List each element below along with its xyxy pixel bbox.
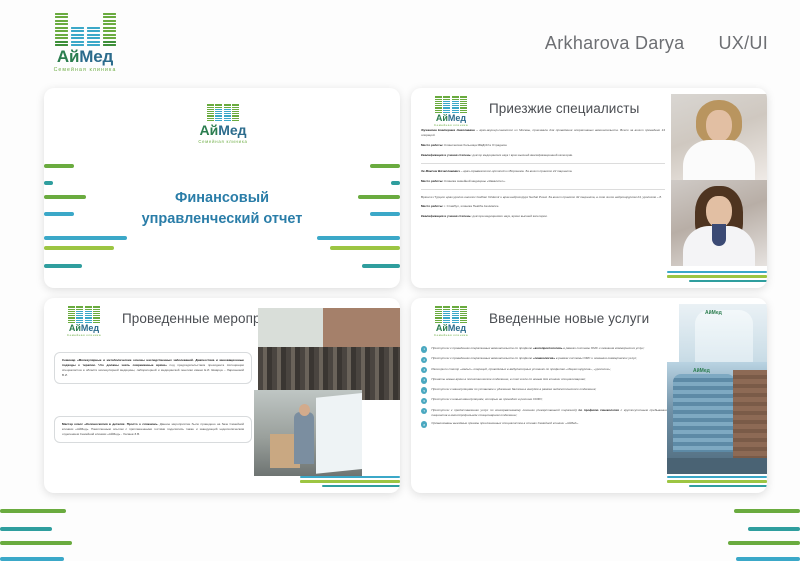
logo-mark-icon — [54, 306, 114, 323]
logo-mark-icon — [192, 104, 254, 121]
event-title: Мастер класс «Колоноскопия в деталях. Пр… — [62, 422, 158, 426]
slide2-brand-name: АйМед — [421, 114, 481, 123]
service-number: 6 — [421, 398, 427, 404]
service-item: 6Приступили к новым манипуляциям, которы… — [421, 397, 669, 404]
services-list: 1Приступили к проведению оперативных вме… — [421, 346, 669, 431]
service-number: 7 — [421, 408, 427, 414]
specialist-block: Жуженова Екатерина Николаевна – врач-аку… — [421, 128, 665, 138]
header-credits: Arkharova Darya UX/UI — [545, 33, 768, 54]
slide-services-card[interactable]: АйМед Семейная клиника Введенные новые у… — [411, 298, 767, 493]
specialists-text: Жуженова Екатерина Николаевна – врач-аку… — [421, 128, 665, 224]
specialist-name: Хе Максим Вячеславович — [421, 169, 460, 173]
service-item: 1Приступили к проведению оперативных вме… — [421, 346, 669, 353]
portfolio-page: АйМед Семейная клиника Arkharova Darya U… — [0, 0, 800, 561]
slide1-title: Финансовый управленческий отчет — [44, 188, 400, 230]
service-number: 4 — [421, 377, 427, 383]
slide4-brand-name: АйМед — [421, 324, 481, 333]
bottom-decor — [0, 499, 800, 561]
brand-name: АйМед — [30, 48, 140, 66]
slide1-logo: АйМед Семейная клиника — [192, 104, 254, 144]
logo-mark-icon — [30, 12, 140, 46]
slide3-brand-name: АйМед — [54, 324, 114, 333]
logo-mark-icon — [421, 96, 481, 113]
divider — [421, 189, 665, 190]
divider — [421, 163, 665, 164]
event-photos — [254, 308, 400, 476]
service-text: Приступили к проведению оперативных вмеш… — [431, 346, 644, 353]
slide2-decor-bars — [667, 269, 767, 282]
specialist-field: Место работы: Клиника семейной медицины … — [421, 179, 665, 184]
page-header: АйМед Семейная клиника Arkharova Darya U… — [0, 0, 800, 85]
slide4-title: Введенные новые услуги — [489, 311, 649, 326]
field-value: г. Стамбул, клиника Healths Assistance. — [443, 204, 499, 208]
specialist-desc: врач-уролог-онколог Gokhan Ozdemir и вра… — [445, 195, 662, 199]
audience-photo — [258, 308, 400, 400]
field-label: Квалификация и ученая степень: — [421, 153, 472, 157]
specialist-field: Квалификация и ученая степень: доктора м… — [421, 214, 665, 219]
doctor-photo — [671, 180, 767, 266]
field-value: Клиника семейной медицины «Эквалитет». — [443, 179, 505, 183]
service-text: Организованы выездные приемы приглашенны… — [431, 421, 579, 428]
service-text: Приступили к манипуляциям по установке и… — [431, 387, 596, 394]
service-number: 5 — [421, 387, 427, 393]
slide1-brand-name: АйМед — [192, 123, 254, 138]
specialist-photos — [671, 94, 767, 266]
service-text: Приступили к новым манипуляциям, которые… — [431, 397, 542, 404]
service-item: 8Организованы выездные приемы приглашенн… — [421, 421, 669, 428]
clinic-building-photos: АйМед АйМед — [667, 304, 767, 474]
building-logo-label: АйМед — [705, 310, 722, 316]
event-box: Мастер класс «Колоноскопия в деталях. Пр… — [54, 416, 252, 443]
service-text: Приняты новые врачи в поликлиническое от… — [431, 377, 585, 384]
service-text: Приступили к проведению оперативных вмеш… — [431, 356, 637, 363]
service-item: 5Приступили к манипуляциям по установке … — [421, 387, 669, 394]
author-role: UX/UI — [718, 33, 768, 54]
service-item: 4Приняты новые врачи в поликлиническое о… — [421, 377, 669, 384]
slide4-logo: АйМед Семейная клиника — [421, 306, 481, 337]
service-item: 2Приступили к проведению оперативных вме… — [421, 356, 669, 363]
specialist-name: Жуженова Екатерина Николаевна — [421, 128, 475, 132]
service-text: Расширили спектр «малых» операций, прово… — [431, 367, 611, 374]
logo-mark-icon — [421, 306, 481, 323]
slide-events-card[interactable]: АйМед Семейная клиника Проведенные мероп… — [44, 298, 400, 493]
slide1-title-line1: Финансовый — [44, 188, 400, 209]
slide1-title-line2: управленческий отчет — [44, 209, 400, 230]
doctor-photo — [671, 94, 767, 180]
field-value: доктора медицинских наук, врачи высшей к… — [472, 214, 548, 218]
slide3-logo: АйМед Семейная клиника — [54, 306, 114, 337]
specialist-field: Место работы: г. Стамбул, клиника Health… — [421, 204, 665, 209]
brand-tagline: Семейная клиника — [30, 67, 140, 73]
specialist-block: Врачи из Турции: врач-уролог-онколог Gok… — [421, 195, 665, 200]
slide4-brand-tagline: Семейная клиника — [421, 333, 481, 337]
service-item: 7Приступили к предоставлению услуг по ко… — [421, 408, 669, 418]
specialist-field: Квалификация и ученая степень: доктор ме… — [421, 153, 665, 158]
specialist-field: Место работы: Клиническая больница МЕДСИ… — [421, 143, 665, 148]
service-number: 2 — [421, 357, 427, 363]
specialist-name: Врачи из Турции: — [421, 195, 445, 199]
field-value: доктор медицинских наук / врач высшей кв… — [472, 153, 574, 157]
slide2-logo: АйМед Семейная клиника — [421, 96, 481, 127]
field-label: Место работы: — [421, 204, 443, 208]
specialist-desc: – врач-травматолог-ортопед из Воронежа. … — [460, 169, 572, 173]
slide-specialists-card[interactable]: АйМед Семейная клиника Приезжие специали… — [411, 88, 767, 288]
field-label: Квалификация и ученая степень: — [421, 214, 472, 218]
field-label: Место работы: — [421, 143, 443, 147]
author-name: Arkharova Darya — [545, 33, 685, 54]
brand-logo: АйМед Семейная клиника — [30, 12, 140, 73]
service-number: 8 — [421, 421, 427, 427]
building-photo-main: АйМед — [667, 362, 767, 474]
slide-title-card[interactable]: АйМед Семейная клиника Финансовый управл… — [44, 88, 400, 288]
building-logo-label: АйМед — [693, 368, 710, 374]
service-item: 3Расширили спектр «малых» операций, пров… — [421, 367, 669, 374]
slide3-decor-bars — [300, 474, 400, 487]
slide3-brand-tagline: Семейная клиника — [54, 333, 114, 337]
service-number: 1 — [421, 346, 427, 352]
slide2-title: Приезжие специалисты — [489, 101, 639, 116]
slide2-brand-tagline: Семейная клиника — [421, 123, 481, 127]
field-value: Клиническая больница МЕДСИ в Отрадном. — [443, 143, 507, 147]
service-number: 3 — [421, 367, 427, 373]
specialist-block: Хе Максим Вячеславович – врач-травматоло… — [421, 169, 665, 174]
service-text: Приступили к предоставлению услуг по кон… — [431, 408, 669, 418]
slide4-decor-bars — [667, 474, 767, 487]
event-box: Семинар «Молекулярные и метаболические о… — [54, 352, 252, 384]
speaker-photo — [254, 390, 362, 476]
slide1-brand-tagline: Семейная клиника — [192, 139, 254, 144]
field-label: Место работы: — [421, 179, 443, 183]
